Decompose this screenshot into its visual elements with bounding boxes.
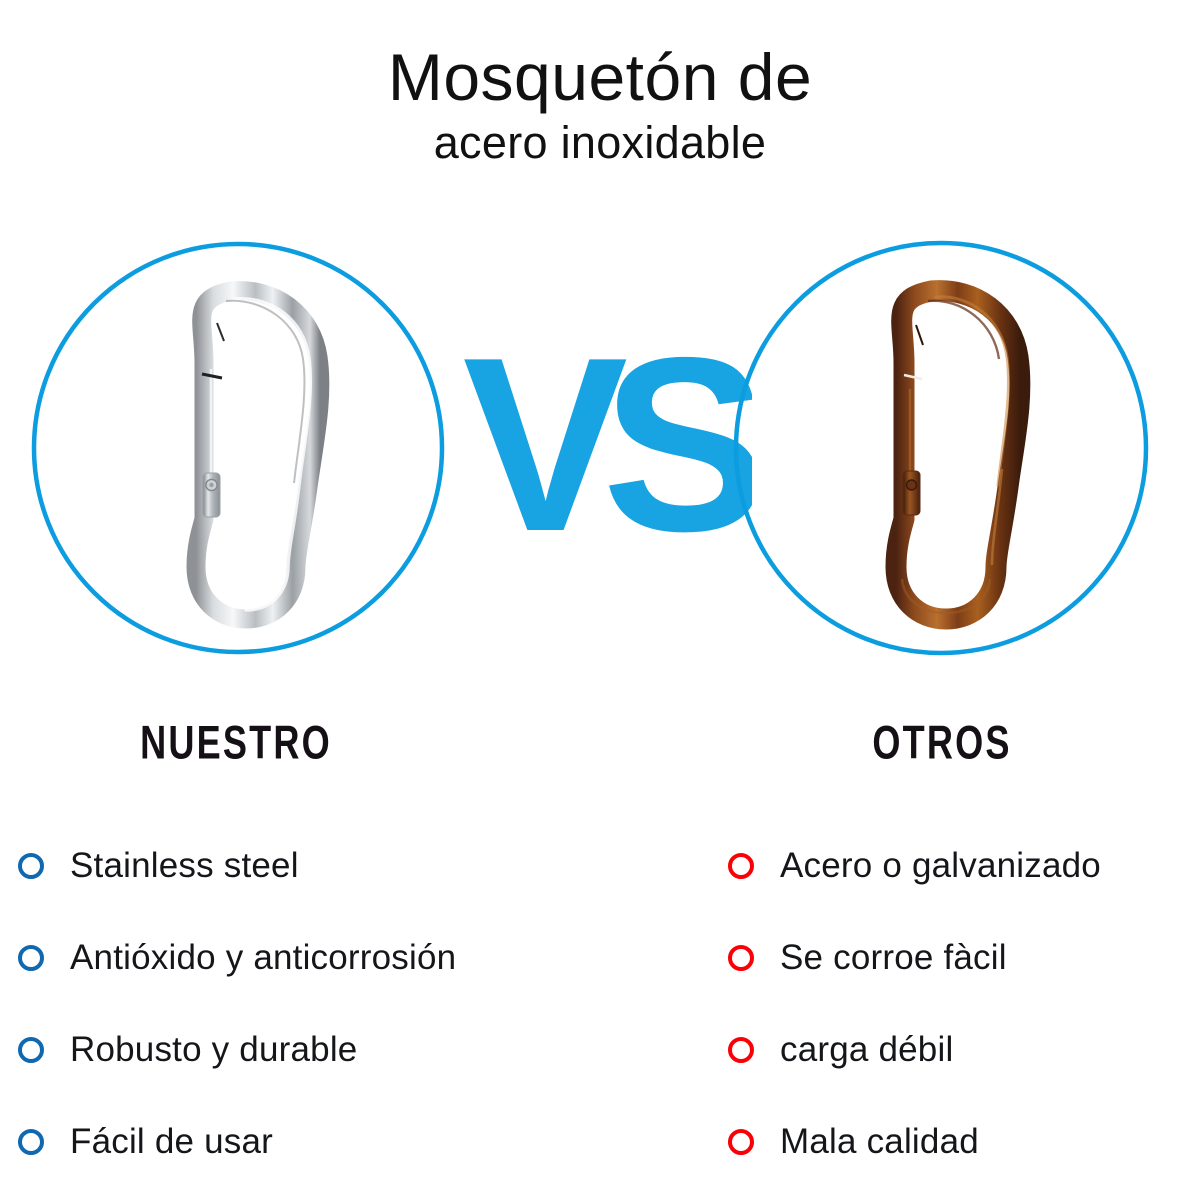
stainless-steel-carabiner-icon <box>196 291 320 619</box>
page-header: Mosquetón de acero inoxidable <box>0 0 1200 169</box>
feature-label: Acero o galvanizado <box>780 846 1101 886</box>
feature-label: carga débil <box>780 1030 953 1070</box>
feature-label: Robusto y durable <box>70 1030 357 1070</box>
list-item: Mala calidad <box>728 1096 1200 1188</box>
others-product-circle <box>733 233 1153 670</box>
list-item: Stainless steel <box>18 820 618 912</box>
circle-bullet-icon <box>728 1129 754 1155</box>
carabiner-sleeve <box>903 471 920 515</box>
rusted-carabiner-icon <box>896 291 1020 619</box>
feature-label: Antióxido y anticorrosión <box>70 938 456 978</box>
circle-bullet-icon <box>18 945 44 971</box>
list-item: Antióxido y anticorrosión <box>18 912 618 1004</box>
versus-badge: VS <box>452 325 752 595</box>
circle-bullet-icon <box>18 1037 44 1063</box>
list-item: Robusto y durable <box>18 1004 618 1096</box>
ours-product-circle <box>30 233 446 670</box>
page-title: Mosquetón de <box>0 42 1200 113</box>
page-subtitle: acero inoxidable <box>0 117 1200 169</box>
circle-bullet-icon <box>728 853 754 879</box>
others-column-heading: OTROS <box>762 716 1121 770</box>
circle-bullet-icon <box>18 1129 44 1155</box>
list-item: Fácil de usar <box>18 1096 618 1188</box>
circle-bullet-icon <box>728 945 754 971</box>
feature-label: Stainless steel <box>70 846 299 886</box>
versus-label: VS <box>463 325 752 583</box>
ours-feature-list: Stainless steel Antióxido y anticorrosió… <box>18 820 618 1188</box>
others-feature-list: Acero o galvanizado Se corroe fàcil carg… <box>728 820 1200 1188</box>
versus-svg: VS <box>452 325 752 595</box>
others-circle-outline <box>736 243 1146 653</box>
ours-column-heading: NUESTRO <box>59 716 413 770</box>
carabiner-rivet <box>907 480 917 490</box>
circle-bullet-icon <box>18 853 44 879</box>
ours-circle-svg <box>30 233 446 665</box>
feature-label: Se corroe fàcil <box>780 938 1007 978</box>
others-circle-svg <box>733 233 1153 665</box>
ours-circle-outline <box>34 244 442 652</box>
list-item: Se corroe fàcil <box>728 912 1200 1004</box>
list-item: carga débil <box>728 1004 1200 1096</box>
circle-bullet-icon <box>728 1037 754 1063</box>
comparison-hero: VS <box>0 215 1200 685</box>
feature-label: Mala calidad <box>780 1122 979 1162</box>
feature-label: Fácil de usar <box>70 1122 273 1162</box>
list-item: Acero o galvanizado <box>728 820 1200 912</box>
